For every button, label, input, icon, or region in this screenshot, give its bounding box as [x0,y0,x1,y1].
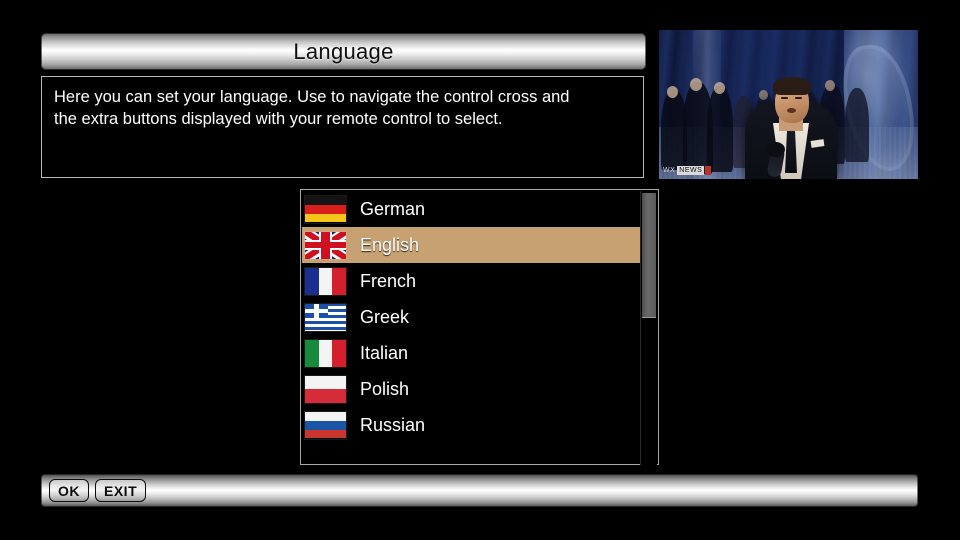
flag-gb-icon [305,232,346,259]
video-crowd-figure [845,88,869,162]
window-title-bar: Language [41,33,646,70]
video-channel-bug: WX NEWS [663,165,737,176]
list-item-label: English [360,235,419,256]
flag-it-icon [305,340,346,367]
list-item-label: Italian [360,343,408,364]
video-reporter-eye [795,97,802,100]
list-scrollbar-thumb[interactable] [642,193,656,318]
video-crowd-head [714,82,725,94]
bottom-softkey-bar: OK EXIT [41,474,918,507]
flag-gr-icon [305,304,346,331]
list-item-label: Greek [360,307,409,328]
video-reporter-hair [773,77,811,95]
video-reporter-eye [781,97,788,100]
video-reporter-mouth [787,108,796,113]
list-scrollbar-track[interactable] [640,191,657,465]
list-item[interactable]: German [302,191,642,227]
list-item[interactable]: Greek [302,299,642,335]
list-item-label: Russian [360,415,425,436]
exit-button[interactable]: EXIT [95,479,146,502]
flag-pl-icon [305,376,346,403]
list-item-label: German [360,199,425,220]
video-crowd-figure [707,86,733,172]
flag-fr-icon [305,268,346,295]
video-crowd-head [667,86,678,98]
ok-button-label: OK [58,483,80,499]
video-preview[interactable]: WX NEWS [659,30,918,179]
video-microphone-head [767,142,785,157]
list-item-selected[interactable]: English [302,227,643,263]
tv-settings-screen: Language Here you can set your language.… [0,0,960,540]
channel-bug-label: NEWS [677,166,704,175]
list-item-label: French [360,271,416,292]
flag-de-icon [305,196,346,223]
video-crowd-head [825,80,835,91]
channel-bug-accent [705,166,711,175]
video-crowd-head [759,90,768,100]
ok-button[interactable]: OK [49,479,89,502]
language-list: German English French [302,191,642,465]
list-item[interactable]: Italian [302,335,642,371]
description-box: Here you can set your language. Use to n… [41,76,644,178]
video-crowd-head [690,78,702,91]
flag-ru-icon [305,412,346,439]
list-item[interactable]: Russian [302,407,642,443]
page-title: Language [293,39,393,65]
list-item[interactable]: French [302,263,642,299]
list-item[interactable]: Polish [302,371,642,407]
description-text: Here you can set your language. Use to n… [54,86,631,131]
language-list-panel: German English French [300,189,659,465]
exit-button-label: EXIT [104,483,137,499]
channel-bug-prefix: WX [663,167,675,174]
list-item-label: Polish [360,379,409,400]
